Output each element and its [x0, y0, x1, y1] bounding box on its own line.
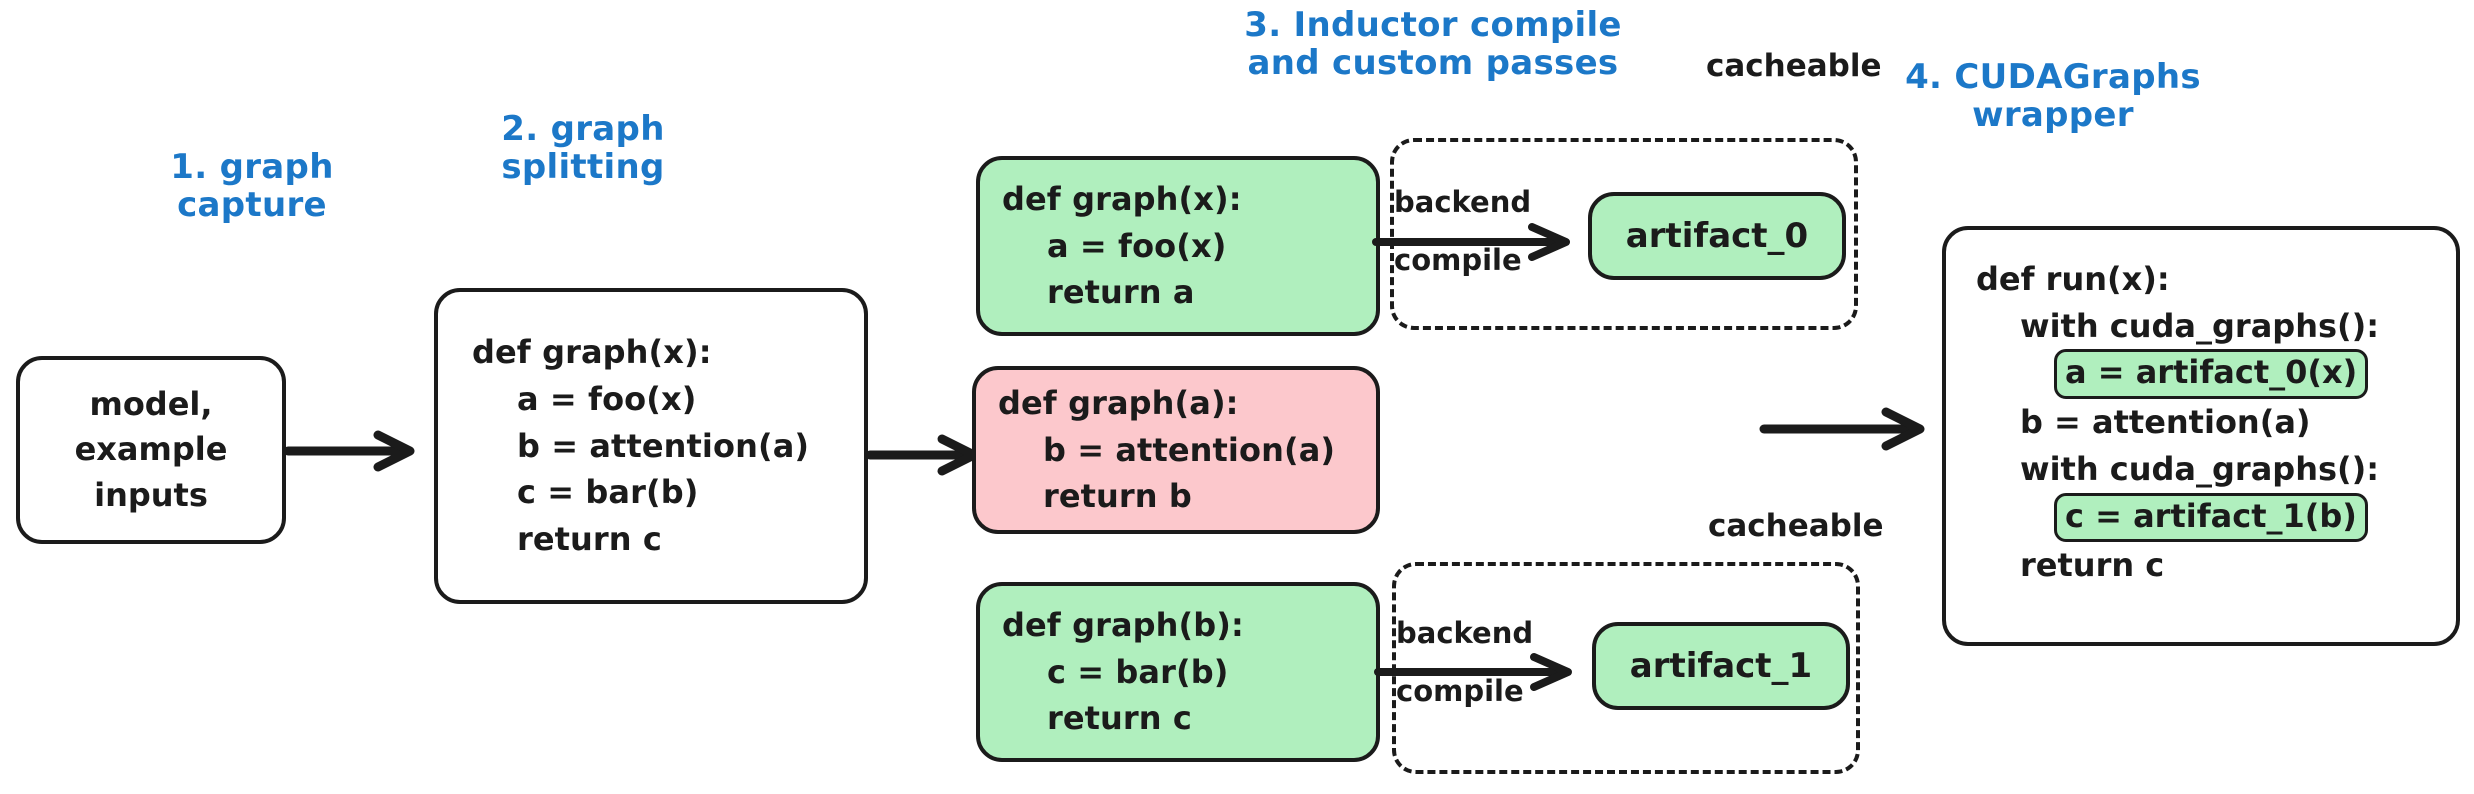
node-subgraph-attention[interactable]: def graph(a): b = attention(a) return b — [972, 366, 1380, 534]
node-runtime-run[interactable]: def run(x): with cuda_graphs(): a = arti… — [1942, 226, 2460, 646]
node-full-graph-line-3: c = bar(b) — [472, 469, 864, 516]
node-artifact-0-label: artifact_0 — [1592, 216, 1842, 256]
node-full-graph-line-4: return c — [472, 516, 864, 563]
runtime-line-6: return c — [1976, 542, 2456, 589]
runtime-line-2-highlight[interactable]: a = artifact_0(x) — [2054, 349, 2368, 399]
runtime-line-3: b = attention(a) — [1976, 399, 2456, 446]
node-model-example-inputs[interactable]: model, example inputs — [16, 356, 286, 544]
arrow-input-to-graph — [286, 428, 436, 474]
node-subgraph-attention-line-1: b = attention(a) — [998, 427, 1376, 474]
node-model-example-inputs-text: model, example inputs — [20, 382, 282, 518]
node-subgraph-foo[interactable]: def graph(x): a = foo(x) return a — [976, 156, 1380, 336]
edge-label-backend-bottom: backend — [1396, 616, 1533, 650]
node-subgraph-bar[interactable]: def graph(b): c = bar(b) return c — [976, 582, 1380, 762]
node-subgraph-foo-line-2: return a — [1002, 269, 1376, 316]
edge-label-backend-top: backend — [1394, 185, 1531, 219]
runtime-line-1: with cuda_graphs(): — [1976, 303, 2456, 350]
step-label-graph-splitting: 2. graph splitting — [478, 110, 688, 186]
node-full-graph-line-0: def graph(x): — [472, 329, 864, 376]
node-subgraph-attention-line-0: def graph(a): — [998, 380, 1376, 427]
cacheable-label-bottom: cacheable — [1708, 508, 1884, 544]
diagram-canvas: 1. graph capture 2. graph splitting 3. I… — [0, 0, 2474, 794]
node-subgraph-attention-line-2: return b — [998, 473, 1376, 520]
node-artifact-1[interactable]: artifact_1 — [1592, 622, 1850, 710]
node-subgraph-bar-line-2: return c — [1002, 695, 1376, 742]
node-artifact-0[interactable]: artifact_0 — [1588, 192, 1846, 280]
runtime-line-4: with cuda_graphs(): — [1976, 446, 2456, 493]
step-label-graph-capture: 1. graph capture — [152, 148, 352, 224]
runtime-line-0: def run(x): — [1976, 256, 2456, 303]
runtime-line-2-wrap: a = artifact_0(x) — [1976, 349, 2456, 399]
cacheable-label-top: cacheable — [1706, 48, 1882, 84]
node-subgraph-foo-line-1: a = foo(x) — [1002, 223, 1376, 270]
node-subgraph-bar-line-1: c = bar(b) — [1002, 649, 1376, 696]
node-subgraph-foo-line-0: def graph(x): — [1002, 176, 1376, 223]
edge-label-compile-bottom: compile — [1396, 674, 1524, 708]
node-subgraph-bar-line-0: def graph(b): — [1002, 602, 1376, 649]
step-label-inductor-compile: 3. Inductor compile and custom passes — [1228, 6, 1638, 82]
node-full-graph-line-1: a = foo(x) — [472, 376, 864, 423]
edge-label-compile-top: compile — [1394, 243, 1522, 277]
node-full-graph-line-2: b = attention(a) — [472, 423, 864, 470]
arrow-to-runtime — [1762, 406, 1948, 452]
step-label-cudagraphs-wrapper: 4. CUDAGraphs wrapper — [1878, 58, 2228, 134]
node-full-graph[interactable]: def graph(x): a = foo(x) b = attention(a… — [434, 288, 868, 604]
runtime-line-5-wrap: c = artifact_1(b) — [1976, 493, 2456, 543]
node-artifact-1-label: artifact_1 — [1596, 646, 1846, 686]
runtime-line-5-highlight[interactable]: c = artifact_1(b) — [2054, 493, 2368, 543]
